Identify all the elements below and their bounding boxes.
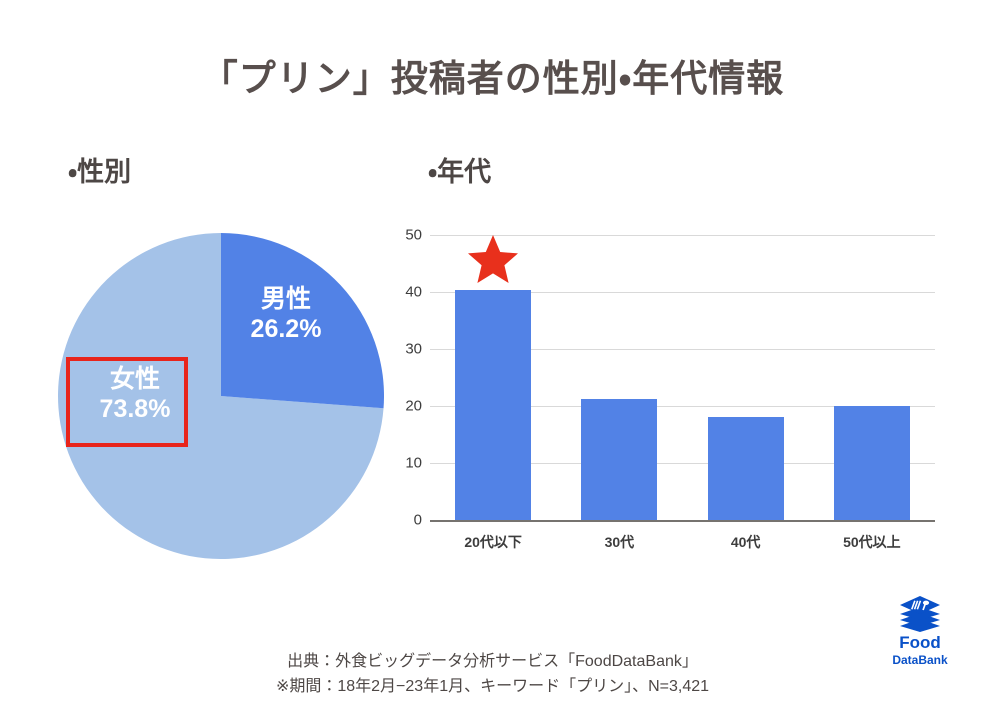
section-heading-age: ・年代: [428, 150, 491, 189]
female-highlight-box: [66, 357, 188, 447]
fooddatabank-logo: Food DataBank: [872, 596, 968, 662]
y-axis-tick-label: 0: [414, 512, 422, 529]
pie-label-male-name: 男性: [226, 285, 346, 315]
page-title: 「プリン」投稿者の性別・年代情報: [0, 48, 985, 102]
footer-source: 出典：外食ビッグデータ分析サービス「FoodDataBank」 ※期間：18年2…: [0, 650, 985, 700]
y-axis-tick-label: 50: [405, 227, 422, 244]
bar-20代以下: [455, 290, 531, 520]
y-axis-tick-label: 30: [405, 341, 422, 358]
pie-label-male: 男性 26.2%: [226, 285, 346, 344]
logo-text-food: Food: [872, 633, 968, 653]
footer-line-2: ※期間：18年2月−23年1月、キーワード「プリン」、N=3,421: [0, 675, 985, 700]
bar-50代以上: [834, 406, 910, 520]
y-axis-tick-label: 40: [405, 284, 422, 301]
x-axis-tick-label: 20代以下: [464, 532, 522, 552]
y-axis-tick-label: 10: [405, 455, 422, 472]
stacked-plates-icon: [898, 596, 942, 632]
x-axis-tick-label: 30代: [605, 532, 635, 552]
section-heading-gender: ・性別: [68, 150, 131, 189]
x-axis-tick-label: 50代以上: [843, 532, 901, 552]
bar-chart-plot-area: 0102030405020代以下30代40代50代以上: [430, 235, 935, 520]
bar-chart-baseline: [430, 520, 935, 522]
gender-pie-chart: 男性 26.2% 女性 73.8%: [58, 233, 384, 559]
star-annotation-icon: [467, 234, 519, 284]
bar-40代: [708, 417, 784, 520]
x-axis-tick-label: 40代: [731, 532, 761, 552]
bar-30代: [581, 399, 657, 520]
y-axis-tick-label: 20: [405, 398, 422, 415]
pie-label-male-value: 26.2%: [226, 315, 346, 345]
age-bar-chart: 0102030405020代以下30代40代50代以上: [395, 225, 955, 545]
logo-text-databank: DataBank: [872, 653, 968, 667]
footer-line-1: 出典：外食ビッグデータ分析サービス「FoodDataBank」: [0, 650, 985, 675]
